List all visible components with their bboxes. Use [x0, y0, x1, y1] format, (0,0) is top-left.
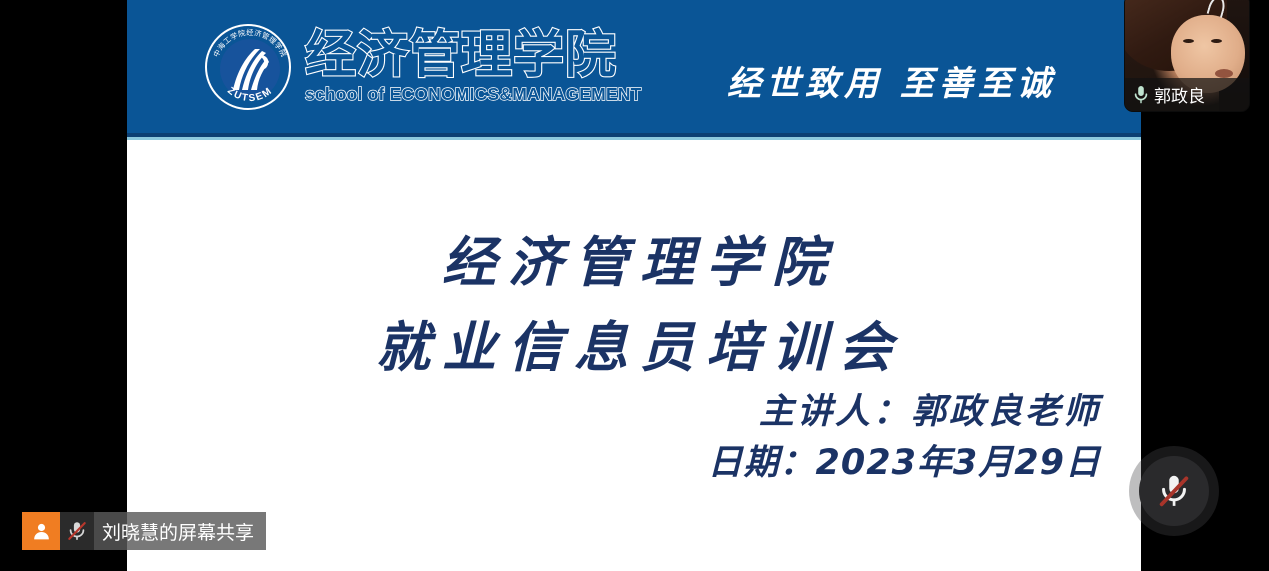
mic-muted-icon — [1155, 472, 1193, 510]
screen-share-status-bar[interactable]: 刘晓慧的屏幕共享 — [22, 512, 266, 550]
mute-toggle-button[interactable] — [1139, 456, 1209, 526]
share-mic-status — [60, 512, 94, 550]
video-subject-eye-right — [1211, 39, 1222, 43]
logo-chinese-name: 经济管理学院 — [305, 29, 642, 83]
participant-name-bar: 郭政良 — [1125, 78, 1249, 111]
school-crest-icon: 中海工学院经济管理学院 ZUTSEM — [205, 24, 291, 110]
participant-name-label: 郭政良 — [1154, 82, 1205, 107]
share-avatar — [22, 512, 60, 550]
logo-wordmark: 经济管理学院 school of ECONOMICS&MANAGEMENT — [305, 29, 642, 106]
logo-english-name: school of ECONOMICS&MANAGEMENT — [305, 84, 642, 105]
slide-presenter: 主讲人：郭政良老师 — [759, 383, 1101, 434]
slide-title-line-1: 经济管理学院 — [127, 218, 1141, 297]
person-icon — [31, 521, 52, 542]
share-owner-label: 刘晓慧的屏幕共享 — [94, 512, 266, 550]
participant-video-thumbnail[interactable]: 郭政良 — [1124, 0, 1250, 112]
meeting-screen: 中海工学院经济管理学院 ZUTSEM 经济管理学院 school of ECON… — [0, 0, 1269, 571]
slide-body: 经济管理学院 就业信息员培训会 主讲人：郭政良老师 日期：2023年3月29日 — [127, 140, 1141, 571]
school-slogan: 经世致用 至善至诚 — [727, 56, 1056, 105]
slide-title-line-2: 就业信息员培训会 — [127, 303, 1141, 382]
mic-icon — [1134, 85, 1148, 105]
mic-muted-icon — [66, 520, 88, 542]
shared-screen-slide: 中海工学院经济管理学院 ZUTSEM 经济管理学院 school of ECON… — [127, 0, 1141, 571]
video-subject-eye-left — [1183, 39, 1194, 43]
slide-date: 日期：2023年3月29日 — [708, 434, 1101, 485]
wave-emblem-icon — [229, 46, 271, 92]
video-subject-mouth — [1215, 69, 1233, 78]
school-logo: 中海工学院经济管理学院 ZUTSEM 经济管理学院 school of ECON… — [205, 18, 642, 116]
